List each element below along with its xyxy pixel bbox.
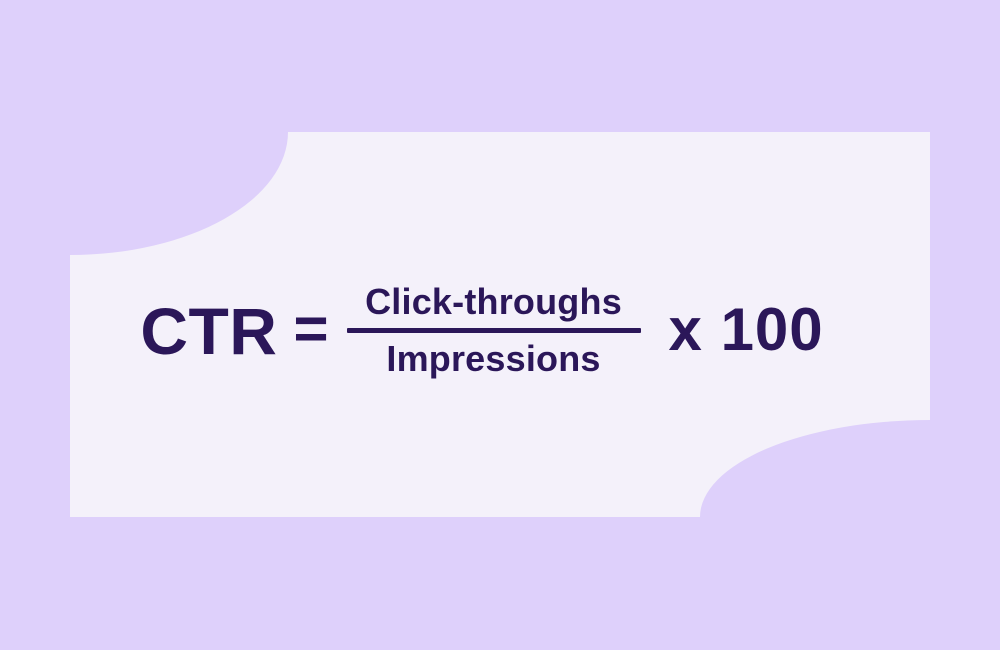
fraction-denominator: Impressions [386,333,600,379]
multiplier: x 100 [669,300,824,360]
equals-sign: = [293,299,328,359]
ctr-equation: CTR = Click-throughs Impressions x 100 [140,283,823,379]
multiplication-sign: x [669,296,703,363]
formula-container: CTR = Click-throughs Impressions x 100 [70,132,930,517]
fraction-numerator: Click-throughs [365,283,622,328]
formula-left-side: CTR [140,298,277,364]
multiplier-value: 100 [721,296,824,363]
fraction: Click-throughs Impressions [347,283,641,379]
canvas: CTR = Click-throughs Impressions x 100 [0,0,1000,650]
